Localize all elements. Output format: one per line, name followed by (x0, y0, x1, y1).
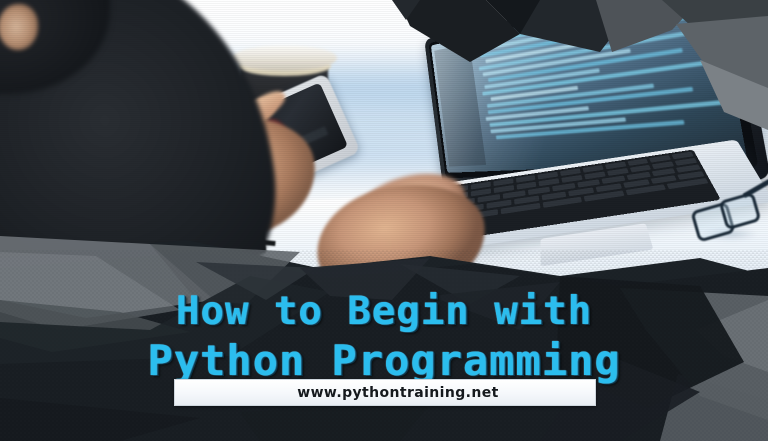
website-url-bar[interactable]: www.pythontraining.net (174, 379, 596, 406)
poly-bottom-1 (0, 398, 200, 441)
poly-right-grey-3 (660, 374, 768, 441)
title-line-1: How to Begin with (0, 292, 768, 331)
background-photo (0, 0, 768, 290)
website-url-text: www.pythontraining.net (271, 385, 499, 401)
title-block: How to Begin with Python Programming (0, 292, 768, 382)
title-line-2: Python Programming (0, 340, 768, 382)
python-training-banner: How to Begin with Python Programming www… (0, 0, 768, 441)
coffee-cup-lid (232, 45, 337, 71)
poly-bottom-2 (240, 404, 430, 441)
